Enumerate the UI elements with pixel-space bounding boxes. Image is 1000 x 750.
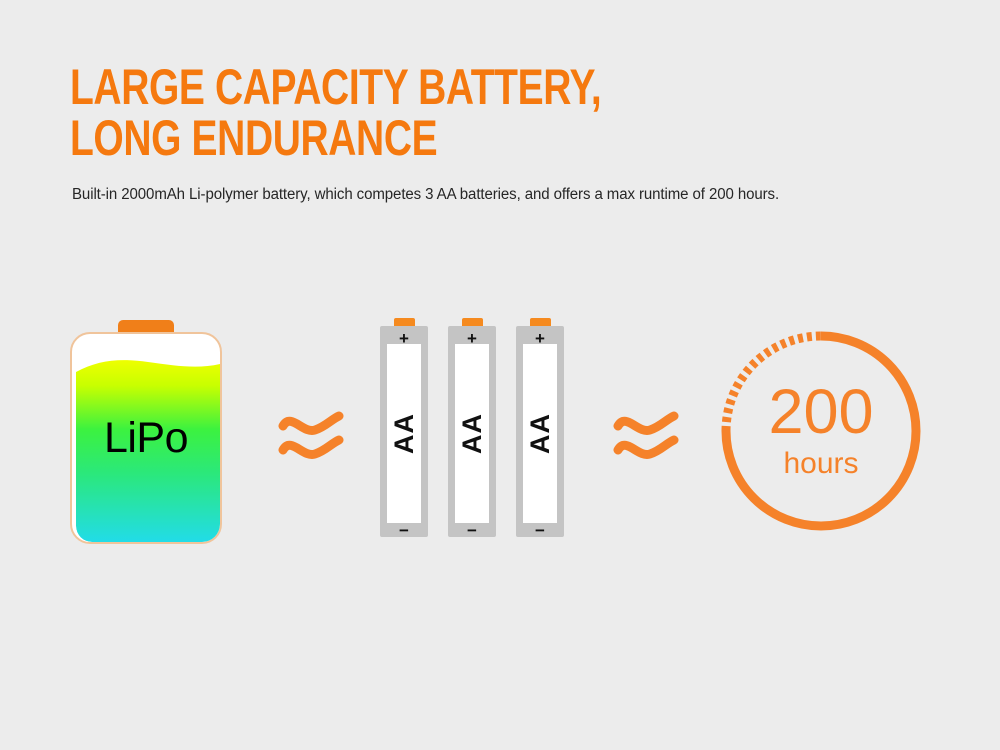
- lipo-battery-graphic: LiPo: [70, 320, 232, 560]
- aa-battery-minus-sign: −: [516, 522, 564, 539]
- page-title: LARGE CAPACITY BATTERY, LONG ENDURANCE: [70, 62, 601, 164]
- aa-battery-group: + AA − + AA − +: [380, 318, 560, 558]
- aa-battery: + AA −: [448, 318, 496, 538]
- aa-battery-minus-sign: −: [380, 522, 428, 539]
- approximately-equal-icon-1: [277, 402, 347, 472]
- runtime-gauge: 200 hours: [718, 328, 924, 534]
- battery-comparison-diagram: LiPo + AA − + A: [0, 300, 1000, 560]
- headline-line-2: LONG ENDURANCE: [70, 113, 601, 164]
- aa-battery: + AA −: [380, 318, 428, 538]
- lipo-battery-fill: [76, 338, 220, 542]
- approximately-equal-icon-2: [612, 402, 682, 472]
- aa-battery-label-panel: [387, 344, 421, 523]
- aa-battery: + AA −: [516, 318, 564, 538]
- aa-battery-minus-sign: −: [448, 522, 496, 539]
- aa-battery-body: + AA −: [380, 326, 428, 537]
- aa-battery-body: + AA −: [516, 326, 564, 537]
- subtitle-text: Built-in 2000mAh Li-polymer battery, whi…: [72, 186, 779, 204]
- lipo-battery-body: [70, 332, 222, 544]
- aa-battery-body: + AA −: [448, 326, 496, 537]
- aa-battery-label-panel: [455, 344, 489, 523]
- aa-battery-label-panel: [523, 344, 557, 523]
- headline-line-1: LARGE CAPACITY BATTERY,: [70, 62, 601, 113]
